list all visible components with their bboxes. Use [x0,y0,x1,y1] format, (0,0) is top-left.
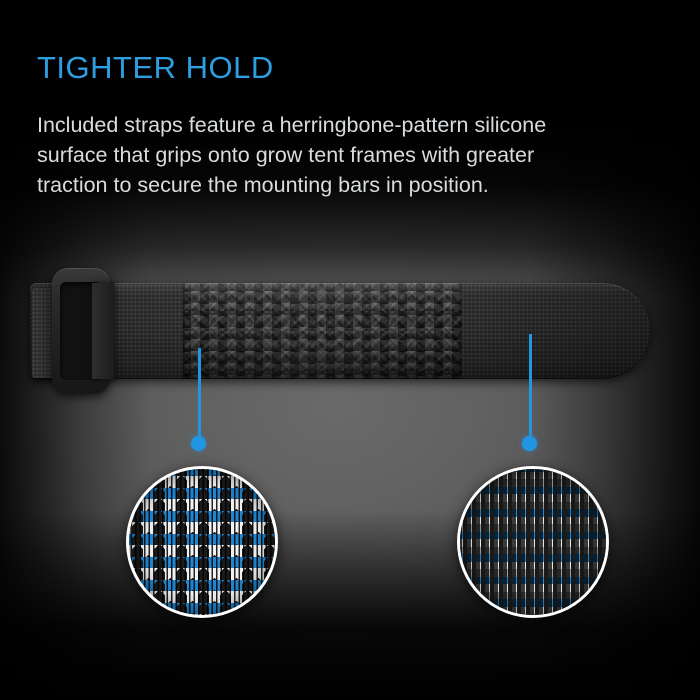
magnifier-herringbone-chevron [126,466,278,618]
chevron-stack [126,466,278,618]
strap-body [30,283,650,379]
callout-leader-line [529,334,532,438]
weave-grid [457,466,609,618]
weave-warp-threads [457,466,609,618]
magnifier-woven-grid-mesh [457,466,609,618]
strap-edge-outline [30,283,650,379]
product-feature-slide: TIGHTER HOLD Included straps feature a h… [0,0,700,700]
magnifier-content [129,469,275,615]
callout-leader-line [198,348,201,438]
buckle-front-bar [92,283,114,379]
magnifier-content [460,469,606,615]
callout-leader-dot [522,436,537,451]
callout-leader-dot [191,436,206,451]
